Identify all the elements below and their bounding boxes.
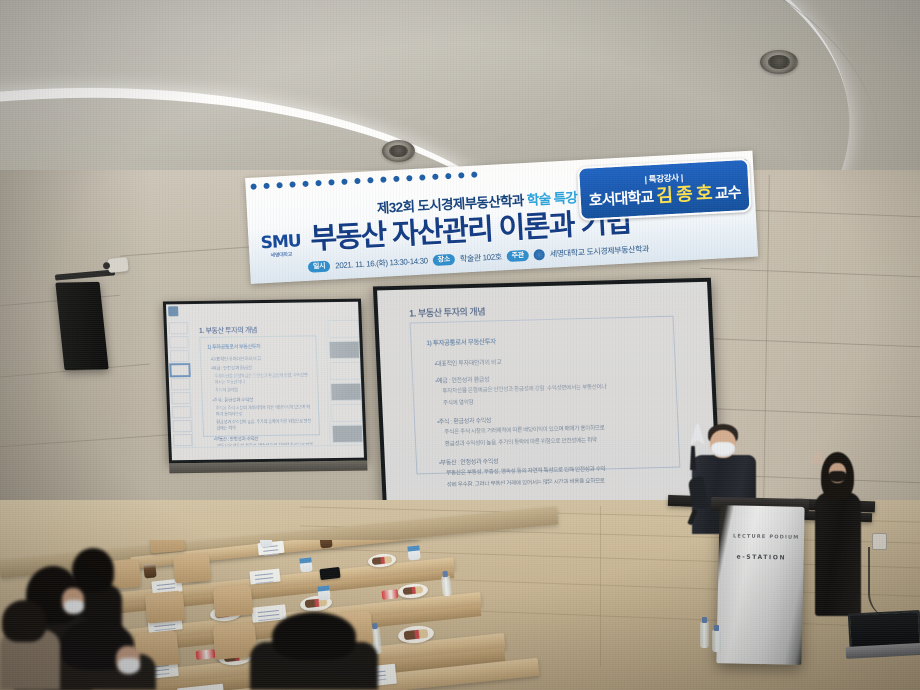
place-label-pill: 장소 [432, 253, 455, 265]
attendee [0, 600, 60, 690]
slide-thumbnail[interactable] [172, 420, 191, 432]
slide-paragraph: 주식은 주식 시장의 거래제적에 따른 배당이익이 있으며 매매가 용이하므로 [216, 404, 313, 418]
slide-section-head: 1) 투자공통로서 부동산투자 [207, 343, 310, 351]
laptop[interactable] [844, 610, 920, 662]
drink-cup [317, 585, 330, 600]
chair [213, 584, 253, 617]
wall-speaker [55, 282, 108, 370]
slide-paragraph: 성에 우수함. 그러나 부동산 거래에 있어서는 많은 시간과 비용을 요하므로 [447, 476, 666, 488]
slide-canvas-left: 1. 부동산 투자의 개념 1) 투자공통로서 부동산투자 대표적인 투자대안과… [191, 320, 328, 446]
drink-cup [299, 557, 312, 572]
ceiling-vent-icon [760, 50, 798, 74]
attendee [250, 612, 378, 690]
speaker-name: 김 종 호 [656, 183, 712, 206]
water-bottle [441, 576, 452, 597]
water-bottle [700, 622, 709, 648]
slide-body: 1) 투자공통로서 부동산투자 대표적인 투자대안과의 비교 예금 : 안전성과… [410, 316, 681, 475]
side-pane-item[interactable] [330, 383, 362, 401]
side-pane-item[interactable] [329, 362, 361, 380]
date-value: 2021. 11. 16.(화) 13:30-14:30 [335, 255, 428, 271]
podium-brand-label: e-STATION [737, 553, 787, 561]
snack-package [382, 589, 399, 600]
smu-logo-mark: SMU [260, 233, 301, 252]
slide-thumbnail[interactable] [169, 322, 188, 334]
assistant-body [815, 492, 861, 616]
slide-title: 1. 부동산 투자의 개념 [409, 305, 486, 320]
presenter-shirt [690, 424, 705, 446]
slide-thumbnail[interactable] [172, 406, 191, 418]
speaker-position: 교수 [714, 185, 741, 203]
drink-cup [407, 545, 420, 560]
snack-package [196, 649, 216, 660]
slide-edit-stage[interactable]: 1. 부동산 투자의 개념 1) 투자공통로서 부동산투자 대표적인 투자대안과… [191, 320, 328, 446]
date-label-pill: 일시 [308, 260, 331, 272]
slide-thumbnail-selected[interactable] [170, 364, 189, 376]
slide-thumbnail[interactable] [170, 350, 189, 362]
slide-bullet: 대표적인 투자대안과의 비교 [211, 355, 311, 362]
slide-body: 1) 투자공통로서 부동산투자 대표적인 투자대안과의 비교 예금 : 안전성과… [199, 335, 320, 437]
lecture-podium: LECTURE PODIUM e-STATION [716, 505, 804, 665]
lecture-hall-photo: SMU 세명대학교 제32회 도시경제부동산학과 학술 특강 부동산 자산관리 … [0, 0, 920, 690]
slide-bullet: 대표적인 투자대안과의 비교 [434, 353, 660, 368]
host-value: 세명대학교 도시경제부동산학과 [550, 243, 650, 259]
presenter-face-mask [711, 442, 735, 457]
slide-thumbnail[interactable] [171, 392, 190, 404]
speaker-name-line: 호서대학교 김 종 호 교수 [588, 183, 741, 209]
powerpoint-side-pane[interactable] [325, 318, 364, 446]
side-pane-item[interactable] [329, 341, 361, 359]
coffee-cup [143, 563, 156, 578]
slide-paragraph: 주식에 열악함 [443, 394, 662, 408]
slide-thumbnail-panel[interactable] [167, 320, 194, 448]
laptop-keyboard-base[interactable] [846, 643, 920, 659]
slide-paragraph: 환금성과 수익성이 높음. 주가의 등락에 따른 위험으로 안전성에는 취약 [216, 418, 313, 432]
speaker-affiliation: 호서대학교 [588, 189, 653, 209]
podium-small-label: LECTURE PODIUM [733, 533, 800, 540]
slide-thumbnail[interactable] [171, 378, 190, 390]
slide-thumbnail[interactable] [173, 434, 192, 446]
assistant-face-mask [829, 471, 846, 482]
left-projection-screen: 1. 부동산 투자의 개념 1) 투자공통로서 부동산투자 대표적인 투자대안과… [163, 299, 367, 464]
slide-thumbnail[interactable] [169, 336, 188, 348]
chair [145, 590, 185, 623]
slide-paragraph: 주식에 열악함 [215, 386, 311, 394]
smu-university-logo: SMU 세명대학교 [254, 223, 308, 270]
place-value: 학술관 102호 [460, 251, 502, 264]
slide-paragraph: 환금성과 수익성이 높음. 주가의 등락에 따른 위험으로 안전성에는 취약 [445, 435, 664, 449]
presenter-tie [690, 446, 696, 470]
speaker-info-box: | 특강강사 | 호서대학교 김 종 호 교수 [577, 158, 752, 221]
host-label-pill: 주관 [506, 249, 529, 261]
slide-canvas-right: 1. 부동산 투자의 개념 1) 투자공통로서 부동산투자 대표적인 투자대안과… [391, 293, 696, 488]
water-bottle [712, 630, 721, 652]
ceiling-vent-icon [382, 140, 415, 162]
powerpoint-status-bar [171, 445, 364, 461]
university-emblem-icon [534, 248, 546, 260]
chair [173, 552, 211, 583]
smu-logo-subtitle: 세명대학교 [271, 253, 293, 259]
right-projection-screen: 1. 부동산 투자의 개념 1) 투자공통로서 부동산투자 대표적인 투자대안과… [373, 278, 721, 513]
side-pane-item[interactable] [331, 404, 363, 422]
speaker-tag: | 특강강사 | [644, 173, 683, 184]
attendee [44, 620, 156, 690]
slide-bullet: 주식 : 환금성과 수익성 [212, 396, 312, 403]
side-pane-item[interactable] [328, 320, 360, 338]
assistant-female [810, 452, 868, 616]
slide-title: 1. 부동산 투자의 개념 [199, 325, 257, 336]
coffee-cup [319, 540, 332, 549]
ceiling-camera-icon [107, 257, 128, 273]
slide-bullet: 예금 : 안전성과 환금성 [211, 365, 311, 372]
side-pane-item[interactable] [332, 425, 364, 443]
slide-page-number: 4 [546, 477, 548, 482]
powerpoint-application: 1. 부동산 투자의 개념 1) 투자공통로서 부동산투자 대표적인 투자대안과… [166, 302, 364, 461]
slide-paragraph: 투자자산을 은행예금은 안전성과 환금성에 강함. 수익성면에서는 부동산이나 [214, 372, 311, 386]
projected-slide-area: 1. 부동산 투자의 개념 1) 투자공통로서 부동산투자 대표적인 투자대안과… [377, 282, 717, 508]
slide-section-head: 1) 투자공통로서 부동산투자 [426, 332, 659, 347]
slide-bullet: 부동산 : 안정성과 수익성 [214, 435, 314, 442]
